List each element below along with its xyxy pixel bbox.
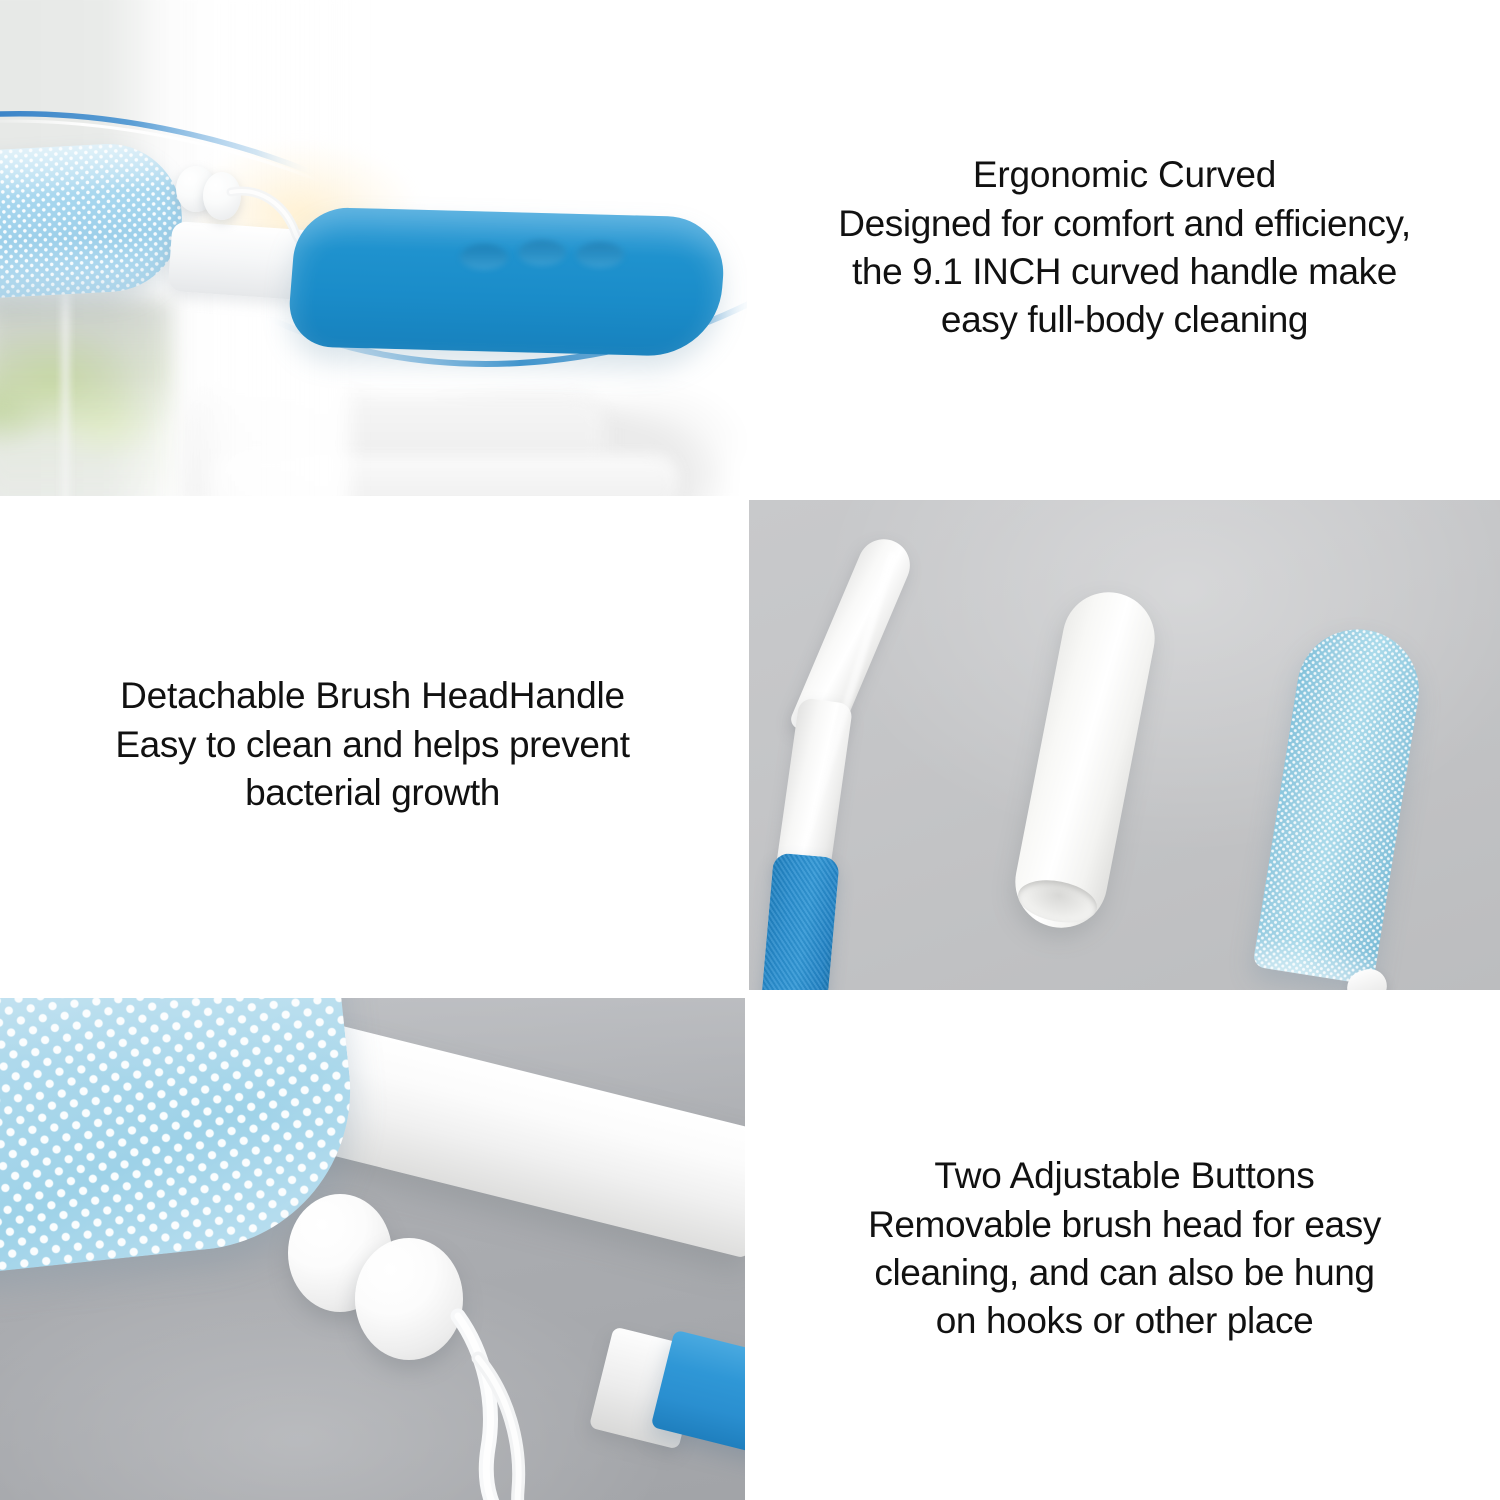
photo-disassembled-parts <box>749 500 1500 990</box>
handle-grip-dimple-3 <box>576 242 624 268</box>
handle-grip-dimple-2 <box>518 240 566 266</box>
feature-body-buttons-line-2: cleaning, and can also be hung <box>874 1249 1374 1297</box>
part-curved-handle <box>749 525 949 990</box>
feature-title-detachable: Detachable Brush HeadHandle <box>120 672 625 721</box>
handle-body <box>286 207 727 358</box>
feature-caption-detachable-head: Detachable Brush HeadHandle Easy to clea… <box>0 500 745 990</box>
feature-caption-two-adjustable-buttons: Two Adjustable Buttons Removable brush h… <box>749 998 1500 1500</box>
blue-ergonomic-handle <box>292 212 722 352</box>
feature-body-detachable-line-1: Easy to clean and helps prevent <box>115 721 629 769</box>
feature-body-ergonomic-line-3: easy full-body cleaning <box>941 296 1308 344</box>
feature-body-detachable-line-2: bacterial growth <box>245 769 500 817</box>
feature-body-ergonomic-line-2: the 9.1 INCH curved handle make <box>852 248 1397 296</box>
feature-title-ergonomic: Ergonomic Curved <box>973 151 1276 200</box>
feature-caption-ergonomic-curved: Ergonomic Curved Designed for comfort an… <box>749 0 1500 496</box>
product-infographic-board: Ergonomic Curved Designed for comfort an… <box>0 0 1500 1500</box>
photo-buttons-closeup <box>0 998 745 1500</box>
feature-title-buttons: Two Adjustable Buttons <box>934 1152 1314 1201</box>
feature-body-buttons-line-1: Removable brush head for easy <box>868 1201 1381 1249</box>
photo-hero-lifestyle <box>0 0 747 496</box>
feature-body-buttons-line-3: on hooks or other place <box>936 1297 1314 1345</box>
feature-body-ergonomic-line-1: Designed for comfort and efficiency, <box>838 200 1410 248</box>
closeup-white-braided-cord-loop <box>430 1298 630 1500</box>
handle-blue-grip <box>760 852 840 990</box>
handle-grip-dimple-1 <box>460 244 508 270</box>
